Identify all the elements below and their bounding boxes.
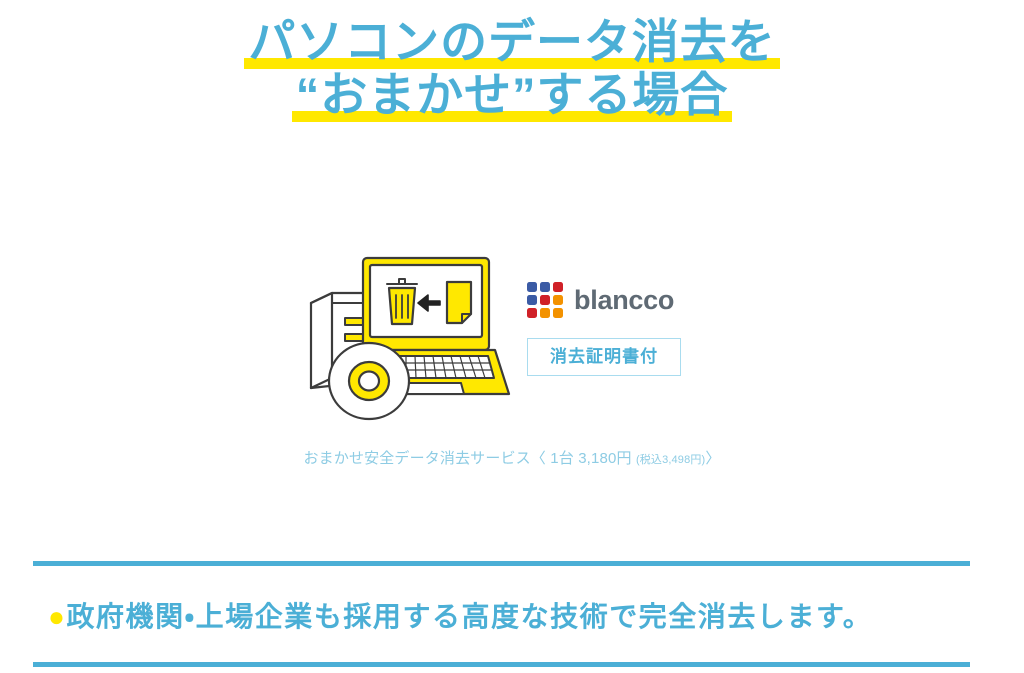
logo-dot <box>553 295 563 305</box>
page-title: パソコンのデータ消去を “おまかせ”する場合 <box>0 18 1024 124</box>
strapline-text: 政府機関・上場企業も採用する高度な技術で完全消去します。 <box>66 601 872 632</box>
logo-dot <box>527 282 537 292</box>
blancco-dot-matrix-icon <box>527 282 563 318</box>
divider-bottom <box>33 662 970 667</box>
service-visual-block: blancco 消去証明書付 <box>0 252 1024 427</box>
document-icon <box>447 282 471 323</box>
headline-line-1: パソコンのデータ消去を <box>244 18 779 71</box>
tax-included-note: (税込3,498円) <box>636 454 705 466</box>
logo-dot <box>540 282 550 292</box>
service-price-caption: おまかせ安全データ消去サービス〈 1台 3,180円 (税込3,498円)〉 <box>0 447 1024 468</box>
brand-column: blancco 消去証明書付 <box>527 280 757 376</box>
erasure-certificate-badge: 消去証明書付 <box>527 338 681 376</box>
logo-dot <box>540 295 550 305</box>
headline-line-2-text: “おまかせ”する場合 <box>296 68 728 121</box>
blancco-wordmark: blancco <box>574 287 674 314</box>
promo-page: パソコンのデータ消去を “おまかせ”する場合 <box>0 0 1024 673</box>
logo-dot <box>527 295 537 305</box>
bullet-icon: ● <box>48 601 66 632</box>
caption-close-bracket: 〉 <box>705 450 720 467</box>
strapline: ●政府機関・上場企業も採用する高度な技術で完全消去します。 <box>48 600 988 634</box>
divider-top <box>33 561 970 566</box>
service-name-text: おまかせ安全データ消去サービス〈 1台 3,180円 <box>304 450 636 467</box>
laptop-data-erase-illustration <box>303 252 515 424</box>
cd-disc-icon <box>329 343 409 419</box>
logo-dot <box>553 308 563 318</box>
logo-dot <box>527 308 537 318</box>
logo-dot <box>540 308 550 318</box>
logo-dot <box>553 282 563 292</box>
headline-line-2: “おまかせ”する場合 <box>292 71 732 124</box>
headline-line-1-text: パソコンのデータ消去を <box>248 15 775 68</box>
blancco-logo: blancco <box>527 280 757 320</box>
